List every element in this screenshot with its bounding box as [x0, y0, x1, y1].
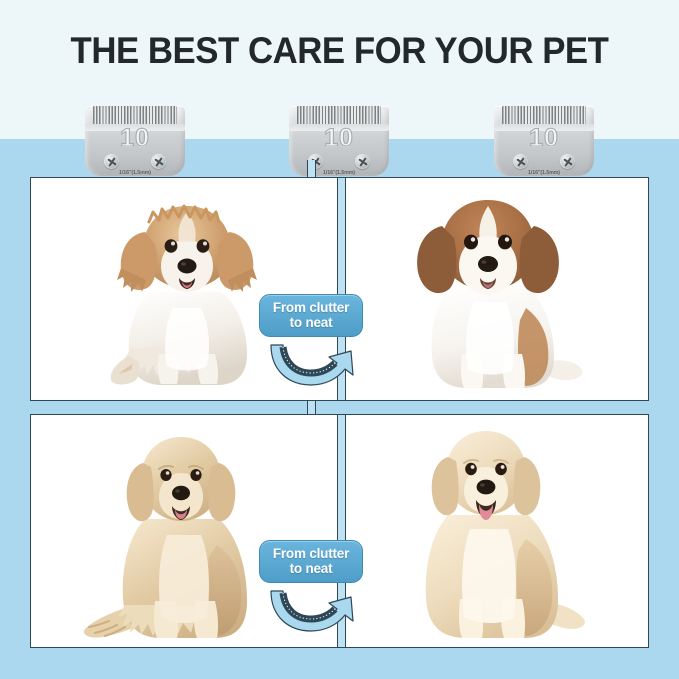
blade-size-label: 1/16"(1.5mm)	[85, 170, 185, 176]
blade-number: 10	[85, 124, 185, 153]
cta-badge-bottom: From clutter to neat	[259, 540, 363, 583]
dog-image-retriever-before	[71, 427, 281, 647]
cta-line2: to neat	[264, 315, 358, 330]
cta-bottom: From clutter to neat	[259, 540, 363, 639]
curved-arrow-icon-top	[259, 339, 363, 393]
after-photo-top: Neatly groomed small dog after grooming	[342, 178, 648, 400]
page-title: THE BEST CARE FOR YOUR PET	[20, 29, 658, 73]
dog-image-shaggy-after	[386, 186, 591, 396]
blade-body: 10 1/16"(1.5mm)	[85, 106, 185, 176]
after-caption-bottom: Golden retriever after grooming	[342, 415, 343, 416]
dog-image-shaggy-before	[87, 188, 287, 393]
dog-image-retriever-after	[378, 423, 593, 647]
blade-size-label: 1/16"(1.5mm)	[289, 170, 389, 176]
connector-stem-top	[307, 160, 316, 178]
blade-number: 10	[289, 124, 389, 153]
blade-body: 10 1/16"(1.5mm)	[289, 106, 389, 176]
cta-line2: to neat	[264, 561, 358, 576]
blade-number: 10	[494, 124, 594, 153]
before-caption-bottom: Golden retriever before grooming	[31, 415, 32, 416]
cta-badge-top: From clutter to neat	[259, 294, 363, 337]
blade-screw-left-icon	[513, 154, 528, 169]
blade-screw-right-icon	[151, 154, 166, 169]
blade-screw-right-icon	[355, 154, 370, 169]
cta-line1: From clutter	[264, 546, 358, 561]
blade-size-label: 1/16"(1.5mm)	[494, 170, 594, 176]
curved-arrow-icon-bottom	[259, 585, 363, 639]
cta-top: From clutter to neat	[259, 294, 363, 393]
after-caption-top: Neatly groomed small dog after grooming	[342, 178, 343, 179]
blade-screw-right-icon	[560, 154, 575, 169]
blade-body: 10 1/16"(1.5mm)	[494, 106, 594, 176]
before-caption-top: Shaggy small dog before grooming	[31, 178, 32, 179]
clipper-blade-1: 10 1/16"(1.5mm)	[85, 94, 185, 176]
clipper-blade-3: 10 1/16"(1.5mm)	[494, 94, 594, 176]
cta-line1: From clutter	[264, 300, 358, 315]
after-photo-bottom: Golden retriever after grooming	[342, 415, 648, 647]
clipper-blade-2: 10 1/16"(1.5mm)	[289, 94, 389, 176]
pet-grooming-poster: THE BEST CARE FOR YOUR PET 10 1/16"(1.5m…	[0, 0, 679, 679]
blade-screw-left-icon	[104, 154, 119, 169]
